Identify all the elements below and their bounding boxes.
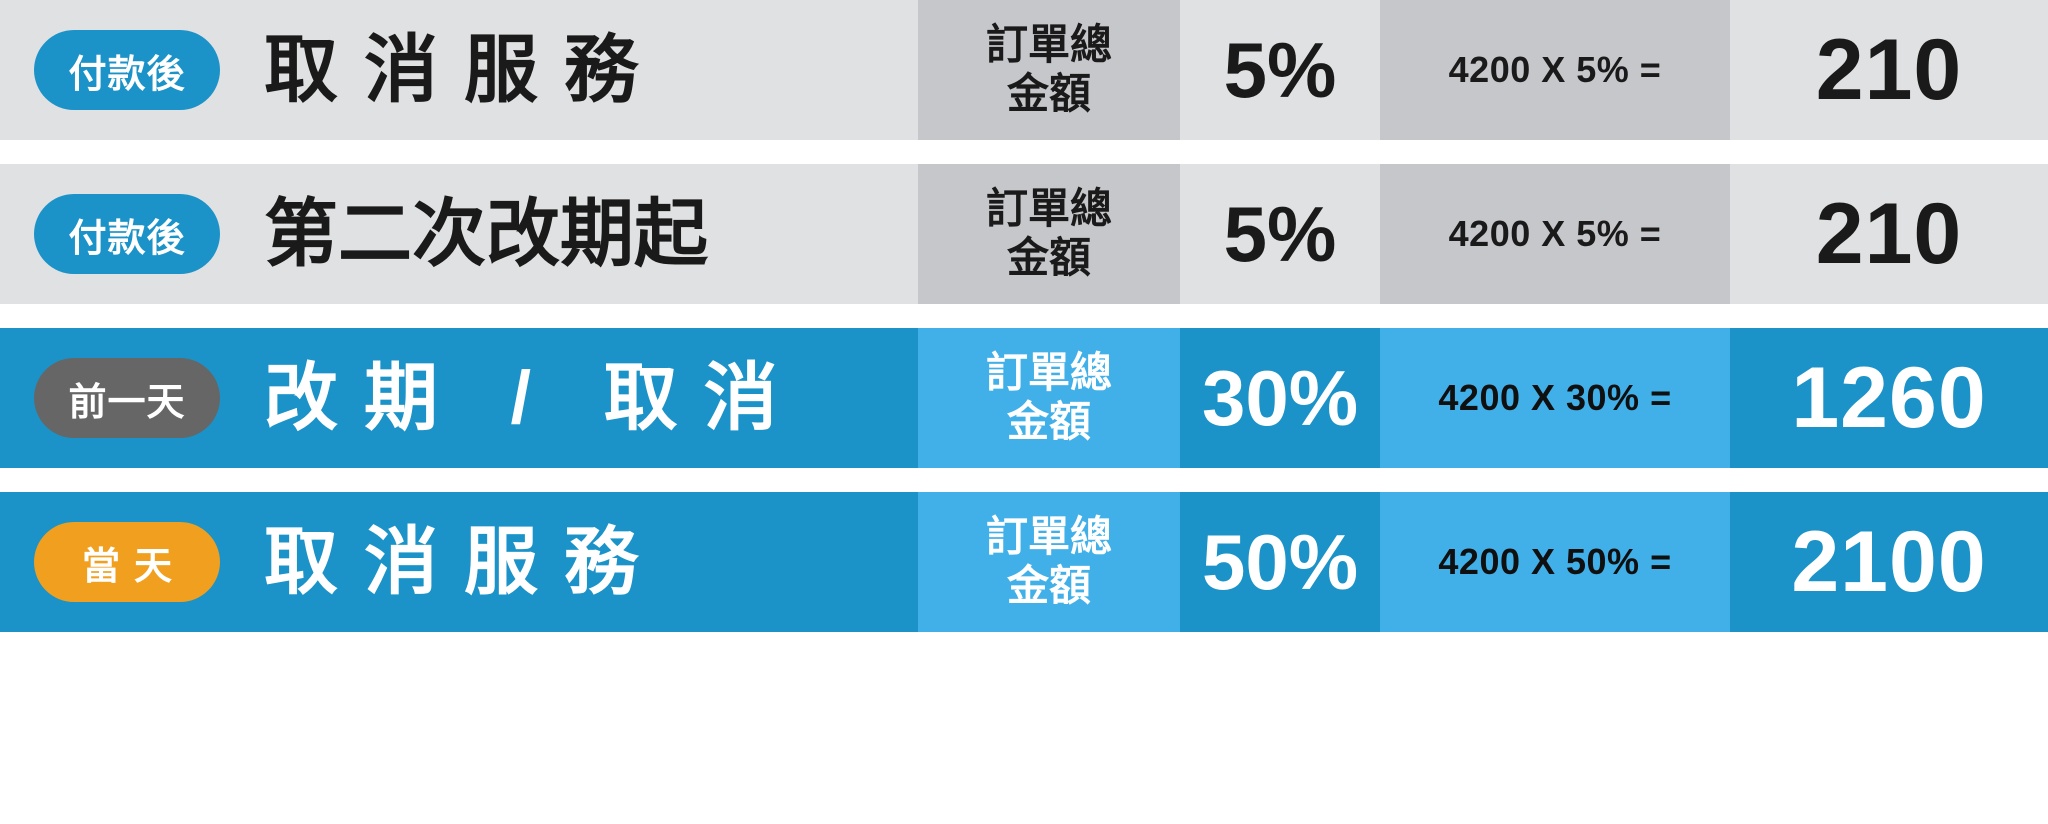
row-separator bbox=[0, 304, 2048, 328]
fee-rate-cell: 50% bbox=[1180, 492, 1380, 632]
row-separator bbox=[0, 468, 2048, 492]
cancellation-fee-table: 付款後取消服務訂單總 金額5%4200 X 5% =210付款後第二次改期起訂單… bbox=[0, 0, 2048, 824]
policy-name: 取消服務 bbox=[264, 33, 664, 107]
timing-badge: 當天 bbox=[34, 522, 220, 602]
timing-badge: 付款後 bbox=[34, 30, 220, 110]
fee-basis-text: 訂單總 金額 bbox=[986, 513, 1112, 610]
policy-label-cell: 前一天改期 / 取消 bbox=[0, 328, 918, 468]
table-row: 前一天改期 / 取消訂單總 金額30%4200 X 30% =1260 bbox=[0, 328, 2048, 468]
fee-amount-text: 210 bbox=[1816, 27, 1963, 113]
fee-amount-text: 2100 bbox=[1791, 519, 1986, 605]
policy-label-cell: 付款後取消服務 bbox=[0, 0, 918, 140]
fee-amount-cell: 210 bbox=[1730, 164, 2048, 304]
fee-formula-text: 4200 X 5% = bbox=[1449, 216, 1662, 252]
policy-label-cell: 當天取消服務 bbox=[0, 492, 918, 632]
fee-rate-cell: 5% bbox=[1180, 164, 1380, 304]
fee-formula-text: 4200 X 5% = bbox=[1449, 52, 1662, 88]
fee-basis-cell: 訂單總 金額 bbox=[918, 492, 1180, 632]
fee-rate-text: 30% bbox=[1202, 359, 1358, 437]
fee-amount-cell: 210 bbox=[1730, 0, 2048, 140]
fee-basis-cell: 訂單總 金額 bbox=[918, 164, 1180, 304]
policy-name: 改期 / 取消 bbox=[264, 361, 804, 435]
fee-rate-cell: 30% bbox=[1180, 328, 1380, 468]
fee-formula-cell: 4200 X 30% = bbox=[1380, 328, 1730, 468]
fee-amount-cell: 2100 bbox=[1730, 492, 2048, 632]
fee-rate-text: 5% bbox=[1224, 195, 1337, 273]
fee-amount-cell: 1260 bbox=[1730, 328, 2048, 468]
fee-formula-cell: 4200 X 50% = bbox=[1380, 492, 1730, 632]
policy-name: 第二次改期起 bbox=[264, 197, 708, 271]
fee-rate-text: 50% bbox=[1202, 523, 1358, 601]
fee-amount-text: 210 bbox=[1816, 191, 1963, 277]
fee-amount-text: 1260 bbox=[1791, 355, 1986, 441]
fee-basis-text: 訂單總 金額 bbox=[986, 185, 1112, 282]
table-row: 當天取消服務訂單總 金額50%4200 X 50% =2100 bbox=[0, 492, 2048, 632]
fee-basis-cell: 訂單總 金額 bbox=[918, 328, 1180, 468]
fee-formula-cell: 4200 X 5% = bbox=[1380, 164, 1730, 304]
fee-formula-text: 4200 X 50% = bbox=[1438, 544, 1671, 580]
fee-rate-text: 5% bbox=[1224, 31, 1337, 109]
fee-formula-cell: 4200 X 5% = bbox=[1380, 0, 1730, 140]
fee-formula-text: 4200 X 30% = bbox=[1438, 380, 1671, 416]
timing-badge: 付款後 bbox=[34, 194, 220, 274]
fee-basis-text: 訂單總 金額 bbox=[986, 349, 1112, 446]
table-row: 付款後第二次改期起訂單總 金額5%4200 X 5% =210 bbox=[0, 164, 2048, 304]
fee-rate-cell: 5% bbox=[1180, 0, 1380, 140]
timing-badge: 前一天 bbox=[34, 358, 220, 438]
policy-label-cell: 付款後第二次改期起 bbox=[0, 164, 918, 304]
fee-basis-text: 訂單總 金額 bbox=[986, 21, 1112, 118]
policy-name: 取消服務 bbox=[264, 525, 664, 599]
table-row: 付款後取消服務訂單總 金額5%4200 X 5% =210 bbox=[0, 0, 2048, 140]
row-separator bbox=[0, 140, 2048, 164]
fee-basis-cell: 訂單總 金額 bbox=[918, 0, 1180, 140]
